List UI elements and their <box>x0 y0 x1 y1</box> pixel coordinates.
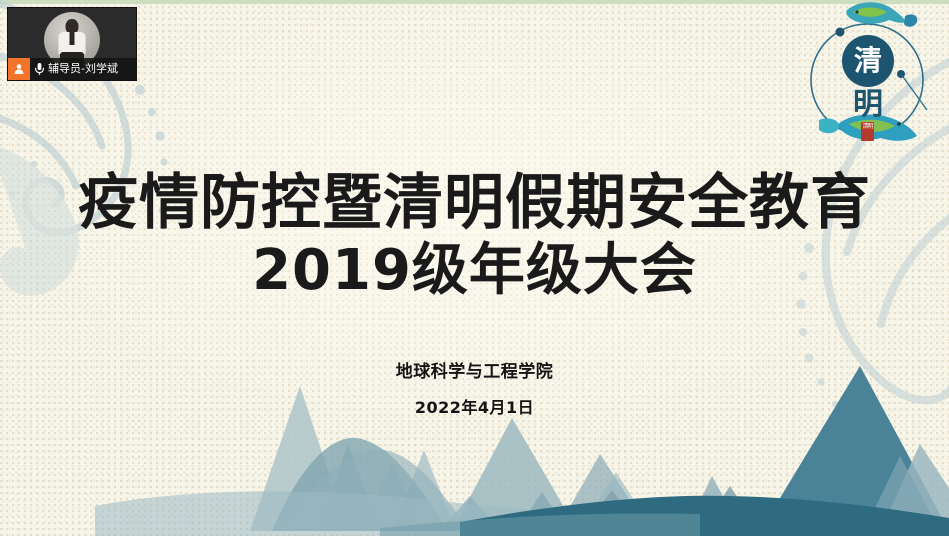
person-icon <box>13 63 25 75</box>
page-title-line1: 疫情防控暨清明假期安全教育 <box>0 166 949 240</box>
organization-name: 地球科学与工程学院 <box>0 360 949 384</box>
koi-fish-icon-top <box>846 2 917 27</box>
subtitle-block: 地球科学与工程学院 2022年4月1日 <box>0 360 949 419</box>
host-badge-icon <box>8 58 30 80</box>
presentation-date: 2022年4月1日 <box>0 397 949 419</box>
presentation-slide: 清 明 清明 疫情防控暨清明假期安全教育 2019级年级大会 地球科学与工程学院 <box>0 0 949 536</box>
page-title-line2: 2019级年级大会 <box>0 240 949 302</box>
emblem-char-bottom: 明 <box>853 90 883 120</box>
mountain-range-silhouette <box>0 326 949 536</box>
mute-status-icon[interactable] <box>30 62 48 76</box>
microphone-icon <box>34 62 45 76</box>
participant-name-label: 辅导员-刘学斌 <box>48 58 118 80</box>
title-block: 疫情防控暨清明假期安全教育 2019级年级大会 <box>0 166 949 302</box>
emblem-red-seal: 清明 <box>861 122 874 141</box>
emblem-char-top: 清 <box>854 47 882 75</box>
emblem-badge-circle: 清 <box>842 35 894 87</box>
webcam-name-bar: 辅导员-刘学斌 <box>8 58 136 80</box>
qingming-emblem: 清 明 清明 <box>795 2 935 170</box>
webcam-tile[interactable]: 辅导员-刘学斌 <box>8 8 136 80</box>
avatar-tie <box>70 32 75 45</box>
